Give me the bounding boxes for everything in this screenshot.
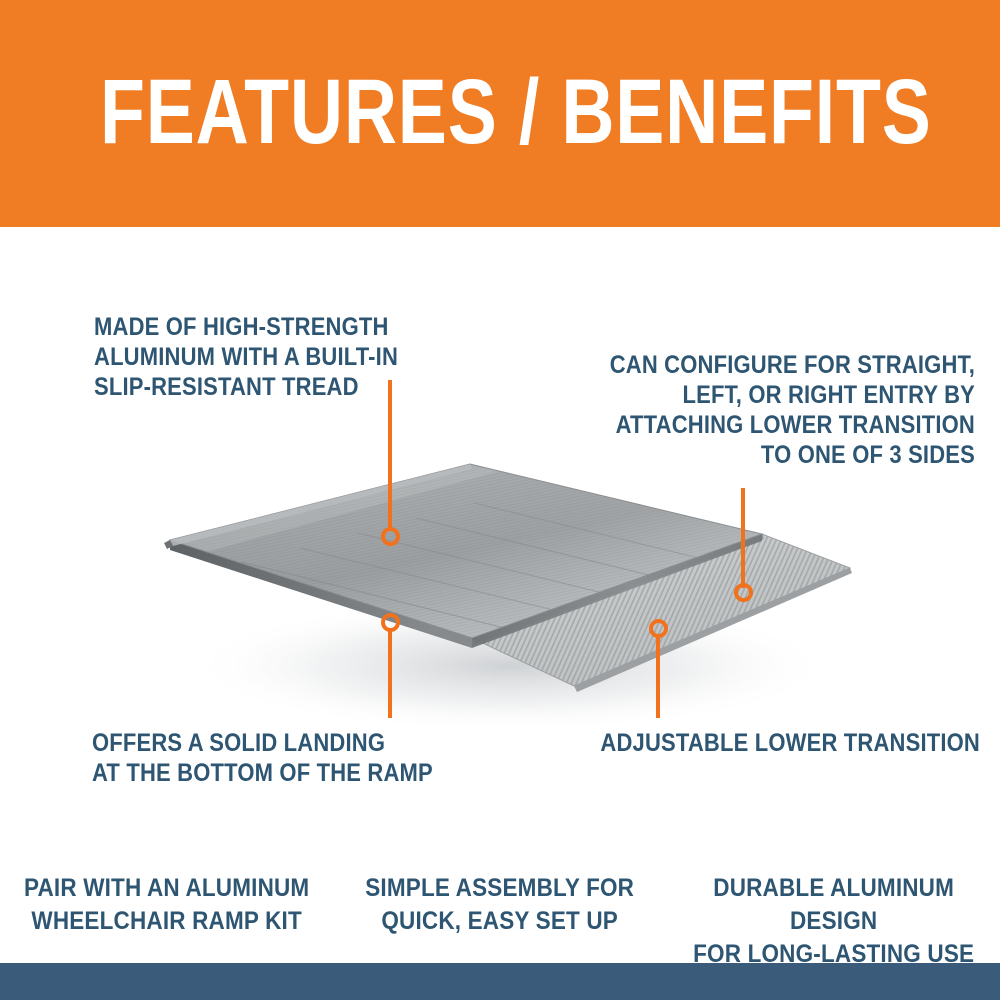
footer-benefit-1: PAIR WITH AN ALUMINUM WHEELCHAIR RAMP KI… <box>17 872 317 938</box>
footer-benefit-3: DURABLE ALUMINUM DESIGN FOR LONG-LASTING… <box>683 872 983 971</box>
callout-label-tread: MADE OF HIGH-STRENGTH ALUMINUM WITH A BU… <box>94 312 472 402</box>
product-image <box>150 440 870 750</box>
callout-leader-line-tread <box>388 380 392 530</box>
footer-benefits-row: PAIR WITH AN ALUMINUM WHEELCHAIR RAMP KI… <box>0 872 1000 952</box>
callout-label-configure: CAN CONFIGURE FOR STRAIGHT, LEFT, OR RIG… <box>579 350 975 470</box>
callout-leader-line-configure <box>741 488 745 588</box>
page-title: FEATURES / BENEFITS <box>100 62 900 162</box>
bottom-accent-bar <box>0 963 1000 1000</box>
callout-leader-line-landing <box>388 628 392 718</box>
callout-label-landing: OFFERS A SOLID LANDING AT THE BOTTOM OF … <box>92 728 470 788</box>
callout-leader-line-transition <box>656 634 660 718</box>
callout-marker-tread <box>381 527 400 546</box>
callout-marker-configure <box>734 583 753 602</box>
callout-label-transition: ADJUSTABLE LOWER TRANSITION <box>593 728 980 758</box>
infographic-page: FEATURES / BENEFITS <box>0 0 1000 1000</box>
footer-benefit-2: SIMPLE ASSEMBLY FOR QUICK, EASY SET UP <box>350 872 650 938</box>
header-banner: FEATURES / BENEFITS <box>0 0 1000 227</box>
